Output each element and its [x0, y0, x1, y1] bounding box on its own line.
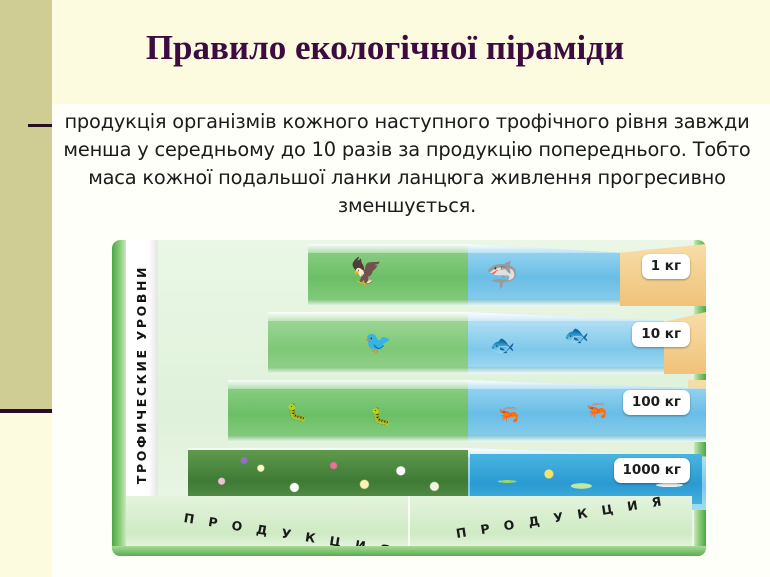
organism-crustacean-icon-2: 🦐: [586, 402, 607, 419]
tier-3-right-top-lip: [468, 380, 706, 389]
organism-crustacean-icon: 🦐: [498, 406, 519, 423]
tier-3-terrestrial-face: [228, 380, 468, 442]
tier-1-left-underside: [308, 299, 468, 306]
trophic-levels-axis: ТРОФИЧЕСКИЕ УРОВНИ: [126, 240, 158, 508]
tier-3-terrestrial-half: 🐛 🐛: [228, 380, 468, 442]
tier-1-aquatic-half: 🦈: [468, 244, 620, 306]
organism-shark-icon: 🦈: [486, 262, 518, 288]
figure-frame-bottom: [112, 546, 706, 556]
organism-predatory-fish-icon-2: 🐟: [564, 326, 589, 346]
organism-falcon-icon: 🦅: [350, 258, 382, 284]
organism-caterpillar-icon: 🐛: [286, 404, 307, 421]
tier-1-left-top-lip: [308, 244, 468, 253]
weight-badge-tier-2: 10 кг: [632, 322, 690, 347]
weight-badge-tier-4: 1000 кг: [614, 458, 691, 483]
tier-1-terrestrial-half: 🦅: [308, 244, 468, 306]
organism-predatory-fish-icon: 🐟: [490, 336, 515, 356]
pyramid-tier-1: 🦅 🦈: [158, 244, 706, 306]
decorative-dash-bottom: [0, 409, 56, 413]
production-plinth: П Р О Д У К Ц И Я П Р О Д У К Ц И Я: [126, 496, 692, 550]
tier-2-left-top-lip: [268, 312, 468, 321]
tier-1-right-top-lip: [468, 244, 620, 253]
body-paragraph: продукція організмів кожного наступного …: [62, 108, 752, 220]
tier-3-left-underside: [228, 435, 468, 442]
tier-1-right-underside: [468, 299, 620, 306]
weight-badge-tier-1: 1 кг: [642, 254, 690, 279]
plinth-center-seam: [408, 496, 410, 550]
production-label-aquatic: П Р О Д У К Ц И Я: [455, 493, 667, 541]
ecological-pyramid-figure: ТРОФИЧЕСКИЕ УРОВНИ 🦅 🦈: [112, 240, 706, 556]
trophic-levels-axis-label: ТРОФИЧЕСКИЕ УРОВНИ: [135, 264, 150, 483]
page-title: Правило екологічної піраміди: [0, 28, 770, 68]
tier-2-right-top-lip: [468, 312, 664, 321]
organism-caterpillar-icon-2: 🐛: [370, 408, 391, 425]
slide-canvas: Правило екологічної піраміди продукція о…: [0, 0, 770, 577]
tier-3-right-underside: [468, 435, 706, 442]
tier-2-left-underside: [268, 367, 468, 374]
meadow-producers-band: [188, 450, 468, 502]
weight-badge-tier-3: 100 кг: [623, 390, 690, 415]
tier-1-terrestrial-face: [308, 244, 468, 306]
figure-frame-left: [112, 240, 126, 556]
tier-2-terrestrial-half: 🐦: [268, 312, 468, 374]
pyramid-tier-2: 🐦 🐟 🐟: [158, 312, 706, 374]
tier-2-right-underside: [468, 367, 664, 374]
tier-3-left-top-lip: [228, 380, 468, 389]
organism-titmouse-icon: 🐦: [364, 332, 391, 354]
